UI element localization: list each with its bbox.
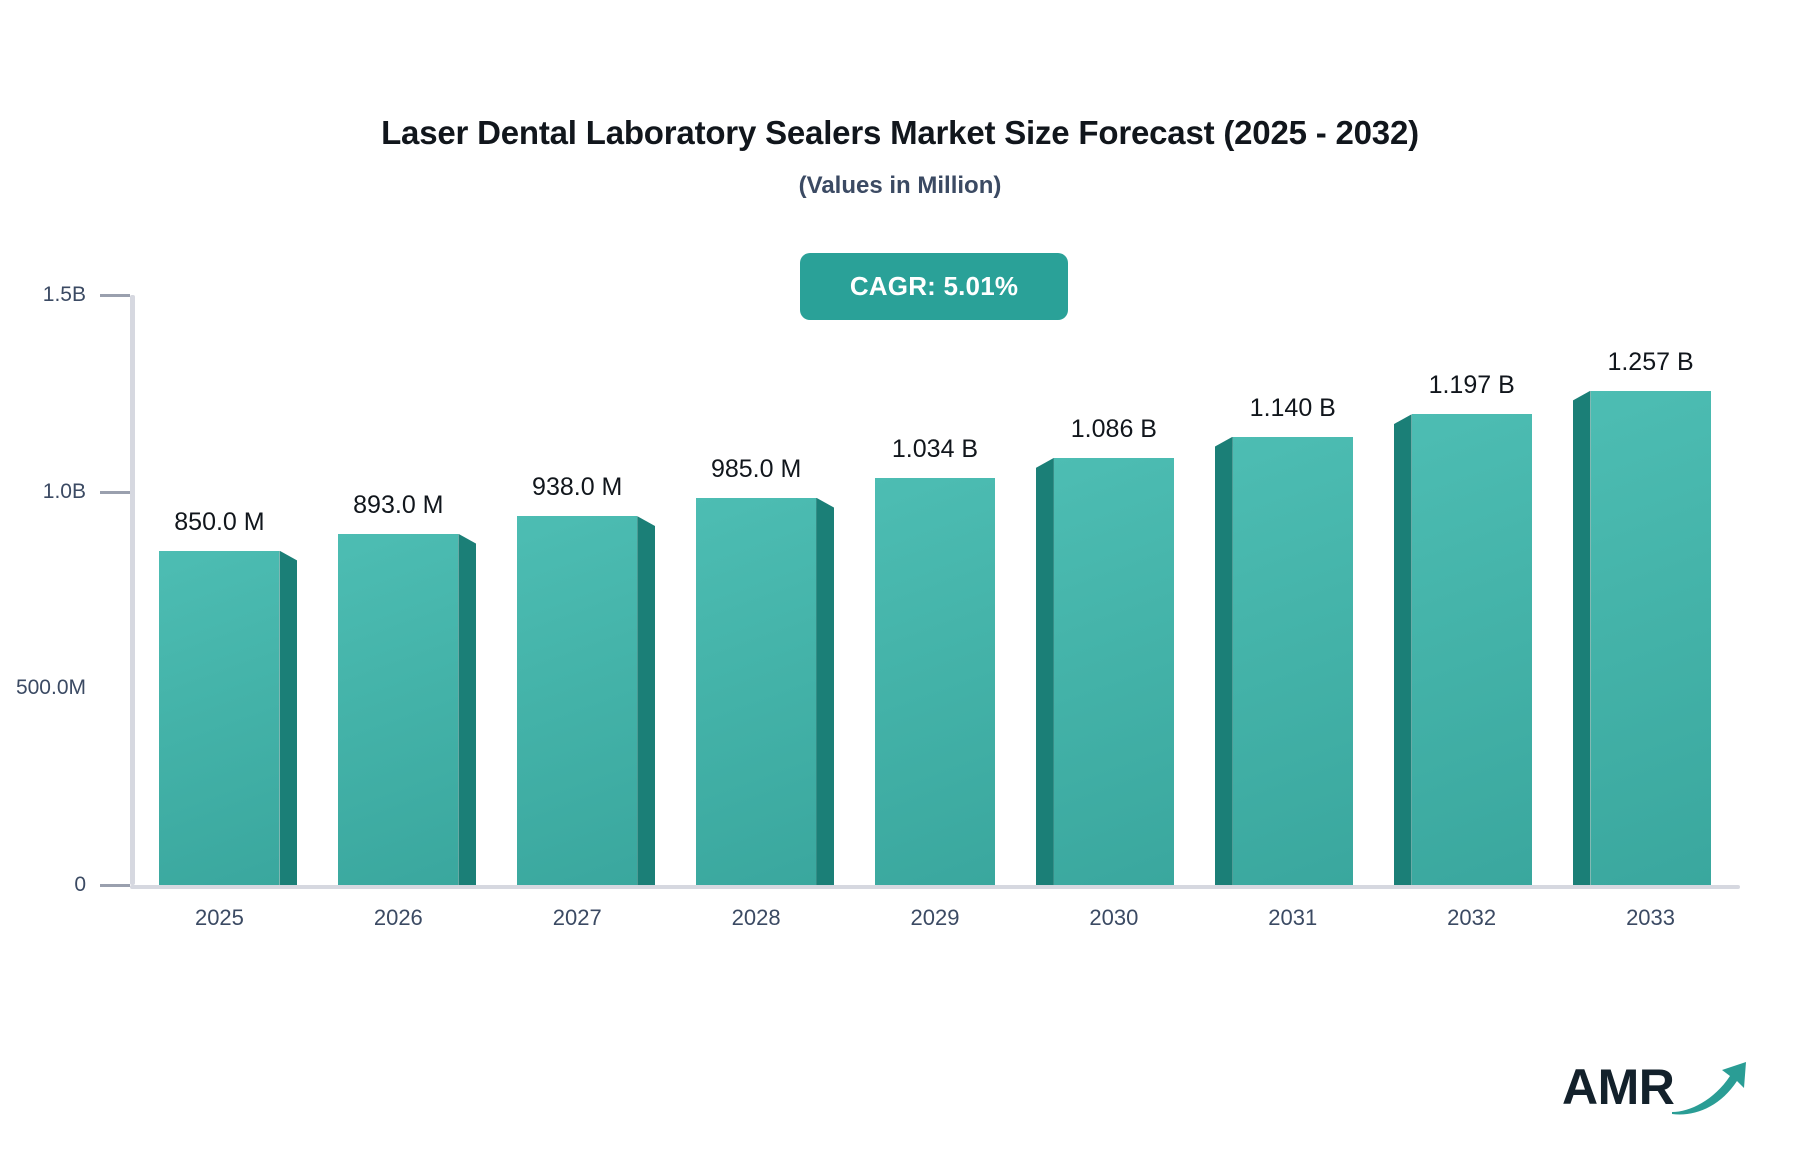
bar-front-face	[159, 551, 279, 885]
y-axis-tick	[100, 294, 130, 297]
y-axis-label: 1.0B	[43, 480, 86, 504]
x-axis-label-2032: 2032	[1447, 905, 1496, 931]
amr-logo: AMR	[1562, 1050, 1752, 1128]
bar-side-face	[1215, 437, 1233, 885]
bar-side-face	[637, 516, 655, 885]
y-axis-tick	[100, 491, 130, 494]
bar-2026[interactable]: 893.0 M	[338, 534, 458, 885]
bar-side-face	[1573, 391, 1591, 885]
bar-2025[interactable]: 850.0 M	[159, 551, 279, 885]
bar-value-label: 850.0 M	[174, 508, 264, 537]
bar-value-label: 1.034 B	[892, 435, 978, 464]
bar-front-face	[875, 478, 995, 885]
bar-front-face	[517, 516, 637, 885]
x-axis-line	[130, 885, 1740, 889]
plot-area: 850.0 M893.0 M938.0 M985.0 M1.034 B1.086…	[130, 295, 1740, 885]
y-axis: 0500.0M1.0B1.5B	[0, 0, 130, 1156]
y-axis-tick	[100, 884, 130, 887]
x-axis-label-2029: 2029	[911, 905, 960, 931]
bar-front-face	[338, 534, 458, 885]
chart-canvas: Laser Dental Laboratory Sealers Market S…	[0, 0, 1800, 1156]
bar-2028[interactable]: 985.0 M	[696, 498, 816, 885]
growth-arrow-icon	[1670, 1056, 1752, 1118]
bar-side-face	[816, 498, 834, 885]
bar-value-label: 938.0 M	[532, 473, 622, 502]
bar-side-face	[1036, 458, 1054, 885]
y-axis-label: 0	[74, 873, 86, 897]
bar-2031[interactable]: 1.140 B	[1233, 437, 1353, 885]
bar-side-face	[279, 551, 297, 885]
bar-2030[interactable]: 1.086 B	[1054, 458, 1174, 885]
x-axis-label-2025: 2025	[195, 905, 244, 931]
bar-side-face	[1394, 414, 1412, 885]
x-axis-label-2030: 2030	[1089, 905, 1138, 931]
bar-2029[interactable]: 1.034 B	[875, 478, 995, 885]
chart-subtitle: (Values in Million)	[0, 172, 1800, 200]
x-axis-label-2027: 2027	[553, 905, 602, 931]
bar-value-label: 985.0 M	[711, 455, 801, 484]
x-axis-label-2031: 2031	[1268, 905, 1317, 931]
bar-front-face	[1054, 458, 1174, 885]
bar-value-label: 1.197 B	[1429, 371, 1515, 400]
chart-title: Laser Dental Laboratory Sealers Market S…	[0, 114, 1800, 152]
bar-2032[interactable]: 1.197 B	[1412, 414, 1532, 885]
bar-2027[interactable]: 938.0 M	[517, 516, 637, 885]
y-axis-label: 500.0M	[16, 676, 86, 700]
x-axis-label-2033: 2033	[1626, 905, 1675, 931]
bar-value-label: 1.140 B	[1250, 394, 1336, 423]
bar-front-face	[1591, 391, 1711, 885]
bar-value-label: 893.0 M	[353, 491, 443, 520]
bar-value-label: 1.257 B	[1607, 348, 1693, 377]
bar-front-face	[1233, 437, 1353, 885]
y-axis-label: 1.5B	[43, 283, 86, 307]
x-axis-label-2028: 2028	[732, 905, 781, 931]
logo-text: AMR	[1562, 1058, 1674, 1116]
bar-2033[interactable]: 1.257 B	[1591, 391, 1711, 885]
bar-front-face	[696, 498, 816, 885]
bar-value-label: 1.086 B	[1071, 415, 1157, 444]
bar-front-face	[1412, 414, 1532, 885]
x-axis-label-2026: 2026	[374, 905, 423, 931]
bar-side-face	[458, 534, 476, 885]
